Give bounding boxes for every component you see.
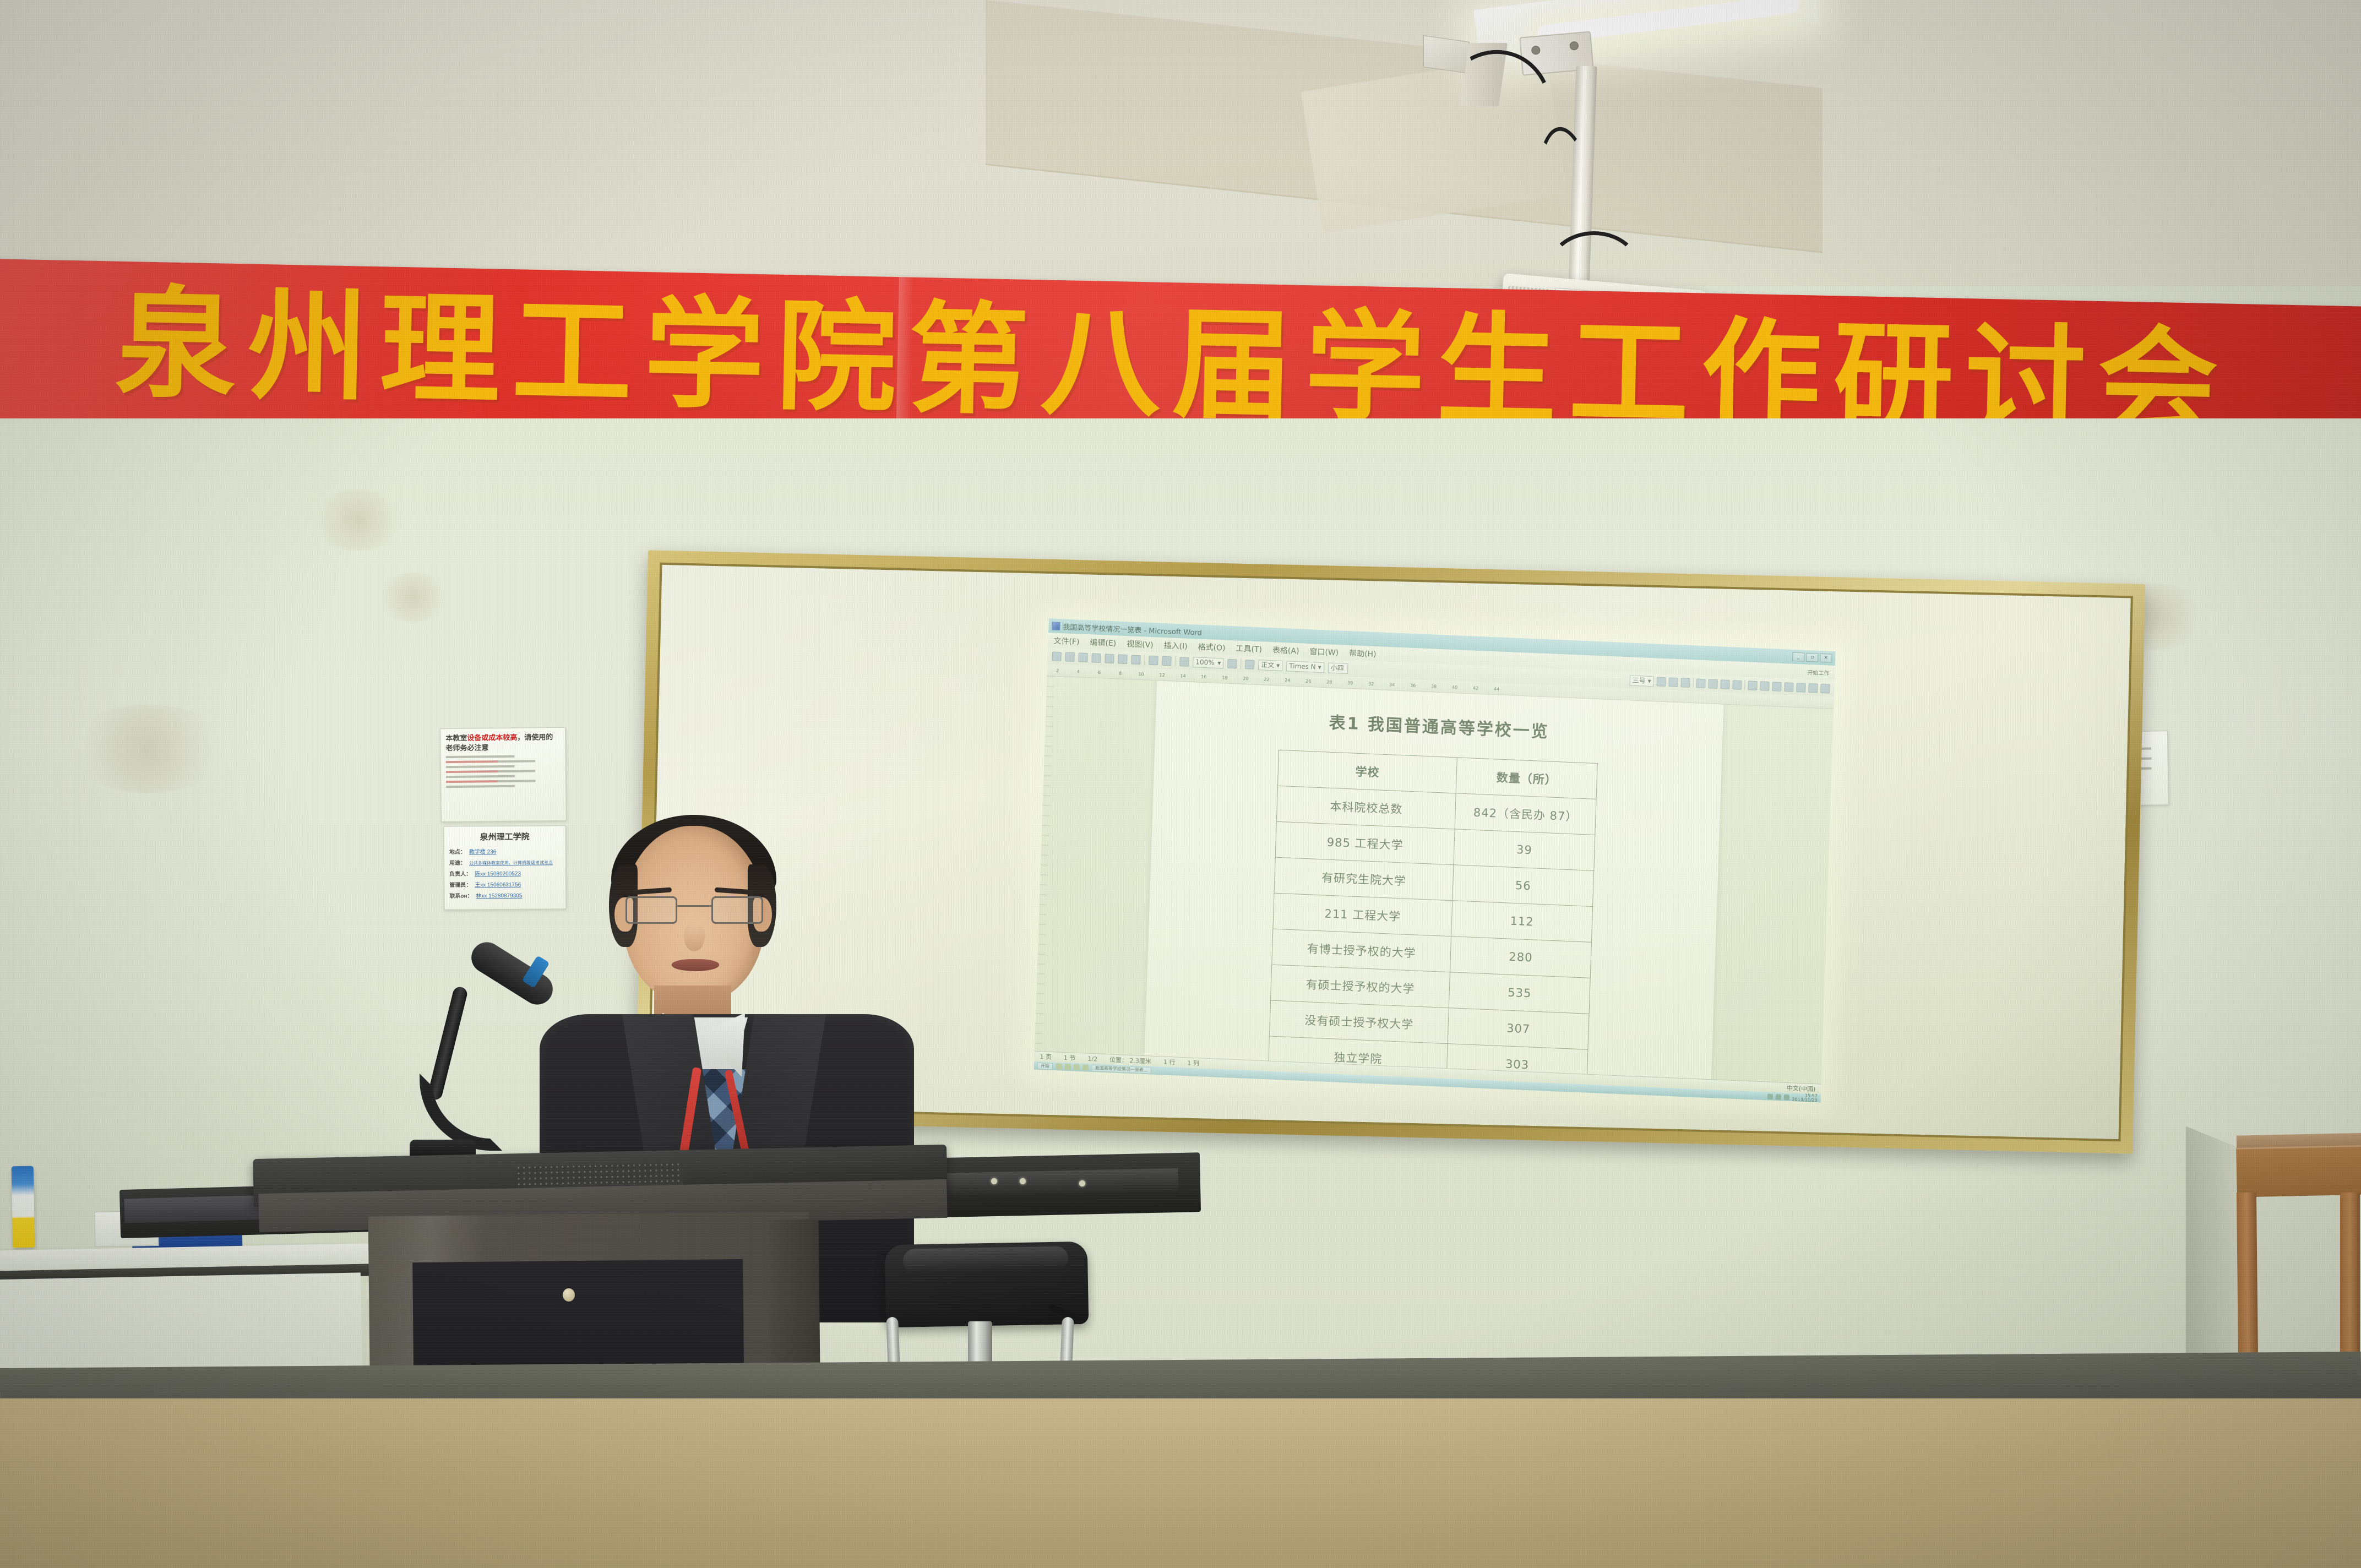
ruler-tick: 12 bbox=[1151, 672, 1172, 678]
cut-icon[interactable] bbox=[1149, 655, 1158, 665]
menu-item-help[interactable]: 帮助(H) bbox=[1349, 647, 1377, 660]
wall-stain bbox=[308, 490, 407, 551]
increase-indent-icon[interactable] bbox=[1796, 683, 1806, 693]
cell-value: 39 bbox=[1454, 829, 1595, 871]
notice-text-line bbox=[446, 770, 561, 773]
mount-bolt-icon bbox=[1569, 41, 1579, 50]
cell-value: 280 bbox=[1450, 937, 1592, 978]
font-select[interactable]: Times N ▾ bbox=[1286, 661, 1324, 673]
menu-item-edit[interactable]: 编辑(E) bbox=[1090, 636, 1116, 649]
window-controls[interactable]: _ ▫ ✕ bbox=[1792, 652, 1832, 663]
menu-item-insert[interactable]: 插入(I) bbox=[1163, 639, 1188, 651]
italic-icon[interactable] bbox=[1668, 677, 1678, 687]
notice-row-value: 王xx 15060631756 bbox=[475, 880, 521, 889]
font-size-value: 三号 bbox=[1632, 676, 1646, 685]
close-icon[interactable]: ✕ bbox=[1820, 654, 1832, 663]
numbered-list-icon[interactable] bbox=[1760, 681, 1770, 691]
decrease-indent-icon[interactable] bbox=[1784, 682, 1794, 692]
ruler-tick: 20 bbox=[1235, 676, 1256, 682]
notice-text-line bbox=[446, 775, 561, 778]
ruler-tick: 22 bbox=[1256, 676, 1277, 682]
chevron-down-icon: ▾ bbox=[1217, 658, 1221, 668]
toolbar-separator bbox=[1241, 659, 1242, 669]
menu-item-file[interactable]: 文件(F) bbox=[1053, 635, 1080, 647]
photo-scene: 泉州理工学院第八届学生工作研讨会 本教室设备或成本较高，请使用的老师务必注意 泉… bbox=[0, 0, 2361, 1568]
nose bbox=[684, 923, 705, 951]
style-icon[interactable] bbox=[1245, 660, 1255, 669]
style-value: 正文 bbox=[1261, 660, 1275, 670]
status-section: 1 节 bbox=[1064, 1053, 1076, 1063]
status-page-count: 1/2 bbox=[1087, 1055, 1097, 1063]
font-color-icon[interactable] bbox=[1820, 683, 1830, 693]
notice-row-key: 联系он： bbox=[449, 891, 472, 899]
word-document-icon bbox=[1052, 622, 1060, 630]
cell-value: 535 bbox=[1449, 972, 1591, 1014]
zoom-select[interactable]: 100% ▾ bbox=[1193, 657, 1224, 668]
shield-icon[interactable] bbox=[1784, 1094, 1789, 1099]
notice-row-value: 教学楼 236 bbox=[469, 847, 497, 855]
system-tray[interactable]: 15:57 2013/11/20 bbox=[1767, 1092, 1818, 1103]
email-icon[interactable] bbox=[1091, 653, 1101, 663]
notice-heading-part1: 本教室 bbox=[445, 734, 467, 742]
chevron-down-icon: ▾ bbox=[1318, 662, 1321, 672]
font-value: Times N bbox=[1289, 661, 1316, 672]
column-header-count: 数量（所） bbox=[1456, 758, 1597, 799]
bold-icon[interactable] bbox=[1656, 677, 1666, 687]
clock-date: 2013/11/20 bbox=[1792, 1097, 1817, 1103]
browser-icon[interactable] bbox=[1056, 1063, 1062, 1069]
toolbar-separator bbox=[1144, 655, 1145, 665]
notice-text-line bbox=[446, 755, 561, 758]
quick-launch-bar[interactable] bbox=[1056, 1063, 1089, 1070]
copy-icon[interactable] bbox=[1162, 656, 1172, 666]
notice-heading: 本教室设备或成本较高，请使用的老师务必注意 bbox=[445, 732, 560, 753]
new-document-icon[interactable] bbox=[1052, 651, 1062, 661]
ruler-tick: 40 bbox=[1444, 684, 1465, 690]
podium-lock-knob[interactable] bbox=[563, 1288, 575, 1302]
help-icon[interactable] bbox=[1227, 658, 1237, 668]
font-cjk-select[interactable]: 小四 bbox=[1328, 662, 1348, 673]
network-icon[interactable] bbox=[1767, 1093, 1773, 1099]
highlight-color-icon[interactable] bbox=[1808, 683, 1818, 693]
align-right-icon[interactable] bbox=[1720, 679, 1730, 689]
menu-item-view[interactable]: 视图(V) bbox=[1127, 638, 1154, 650]
ruler-tick: 14 bbox=[1172, 673, 1193, 679]
bar-stool-seat-highlight bbox=[903, 1246, 1069, 1273]
mouth bbox=[672, 959, 719, 971]
align-left-icon[interactable] bbox=[1696, 678, 1706, 688]
notice-row-key: 管理员： bbox=[449, 880, 471, 888]
menu-item-table[interactable]: 表格(A) bbox=[1272, 644, 1299, 656]
notice-text-line bbox=[446, 765, 561, 768]
status-language: 中文(中国) bbox=[1786, 1084, 1815, 1093]
zoom-value: 100% bbox=[1195, 657, 1215, 667]
higher-education-table: 学校 数量（所） 本科院校总数 842（含民办 87） 98 bbox=[1268, 750, 1598, 1084]
notice-row-key: 负责人： bbox=[449, 869, 471, 877]
table-caption: 表1 我国普通高等学校一览 bbox=[1155, 701, 1723, 749]
floor bbox=[0, 1398, 2361, 1568]
cell-value: 842（含民办 87） bbox=[1455, 793, 1596, 835]
line-spacing-icon[interactable] bbox=[1748, 680, 1758, 690]
chevron-down-icon: ▾ bbox=[1276, 661, 1280, 670]
ruler-tick: 4 bbox=[1068, 668, 1089, 674]
status-led-icon bbox=[1020, 1178, 1026, 1184]
folder-icon[interactable] bbox=[1074, 1064, 1080, 1070]
ruler-tick: 16 bbox=[1193, 674, 1214, 680]
volume-icon[interactable] bbox=[1776, 1094, 1781, 1099]
lens-left bbox=[625, 896, 677, 924]
ruler-tick: 26 bbox=[1298, 678, 1319, 684]
spray-can bbox=[12, 1166, 35, 1248]
undo-icon[interactable] bbox=[1179, 657, 1189, 667]
align-center-icon[interactable] bbox=[1708, 679, 1718, 689]
ruler-tick: 10 bbox=[1130, 671, 1151, 677]
app-icon[interactable] bbox=[1082, 1064, 1089, 1070]
eyeglasses-icon bbox=[625, 896, 763, 925]
print-preview-icon[interactable] bbox=[1118, 654, 1128, 664]
ruler-tick: 36 bbox=[1402, 683, 1423, 689]
print-icon[interactable] bbox=[1105, 654, 1114, 663]
ruler-tick: 34 bbox=[1381, 682, 1402, 688]
ruler-tick: 42 bbox=[1465, 685, 1486, 691]
taskbar-window-button[interactable]: 我国高等学校情况一览表... bbox=[1092, 1065, 1151, 1074]
toolbar-separator bbox=[1693, 678, 1694, 688]
cell-value: 307 bbox=[1448, 1008, 1589, 1050]
media-player-icon[interactable] bbox=[1065, 1064, 1071, 1070]
mount-bolt-icon bbox=[1531, 46, 1541, 55]
glasses-bridge bbox=[677, 905, 711, 907]
chevron-down-icon: ▾ bbox=[1647, 676, 1651, 685]
menu-item-window[interactable]: 窗口(W) bbox=[1309, 646, 1339, 658]
status-position: 位置： 2.3厘米 bbox=[1109, 1055, 1151, 1065]
vertical-ruler bbox=[1035, 676, 1055, 1051]
ruler-tick: 38 bbox=[1423, 683, 1444, 689]
ruler-tick: 28 bbox=[1319, 679, 1340, 685]
notice-equipment-warning: 本教室设备或成本较高，请使用的老师务必注意 bbox=[440, 727, 567, 822]
toolbar-separator bbox=[1744, 680, 1745, 690]
status-led-icon bbox=[991, 1178, 997, 1184]
task-pane-label[interactable]: 开始工作 bbox=[1807, 668, 1829, 677]
save-icon[interactable] bbox=[1078, 652, 1088, 662]
ruler-tick: 18 bbox=[1214, 674, 1235, 680]
underline-icon[interactable] bbox=[1680, 678, 1690, 688]
cell-value: 112 bbox=[1451, 901, 1593, 943]
notice-row-key: 地点： bbox=[449, 847, 466, 855]
status-led-icon bbox=[1079, 1180, 1085, 1186]
ruler-tick: 8 bbox=[1110, 670, 1131, 676]
status-line: 1 行 bbox=[1163, 1058, 1176, 1067]
notice-text-line bbox=[446, 780, 561, 783]
menu-item-format[interactable]: 格式(O) bbox=[1198, 641, 1226, 653]
spellcheck-icon[interactable] bbox=[1131, 655, 1141, 665]
wall-stain bbox=[66, 705, 231, 793]
notice-row-value: 陈xx 15080200523 bbox=[475, 869, 521, 878]
projected-screen: 我国高等学校情况一览表 - Microsoft Word _ ▫ ✕ 文件(F)… bbox=[1034, 618, 1836, 1102]
notice-text-line bbox=[446, 785, 561, 788]
restore-icon[interactable]: ▫ bbox=[1806, 653, 1819, 662]
wall-stain bbox=[374, 573, 451, 622]
menu-item-tools[interactable]: 工具(T) bbox=[1236, 643, 1262, 655]
notice-row-value: 林xx 15280879305 bbox=[476, 891, 522, 900]
style-select[interactable]: 正文 ▾ bbox=[1258, 660, 1283, 671]
minimize-icon[interactable]: _ bbox=[1792, 652, 1805, 662]
ruler-tick: 6 bbox=[1089, 669, 1110, 676]
toolbar-separator bbox=[1175, 656, 1176, 666]
ruler-tick: 30 bbox=[1340, 680, 1361, 686]
document-page[interactable]: 表1 我国普通高等学校一览 学校 数量（所） 本科院校总数 bbox=[1145, 680, 1724, 1079]
notice-text-line bbox=[446, 760, 561, 763]
notice-heading-highlight: 设备或成本较高 bbox=[467, 733, 517, 742]
open-folder-icon[interactable] bbox=[1065, 652, 1075, 662]
bulleted-list-icon[interactable] bbox=[1772, 682, 1782, 692]
status-page: 1 页 bbox=[1040, 1052, 1052, 1061]
ruler-tick: 24 bbox=[1277, 677, 1298, 683]
notice-row-key: 用途： bbox=[449, 858, 466, 866]
justify-icon[interactable] bbox=[1732, 680, 1742, 690]
status-column: 1 列 bbox=[1187, 1058, 1199, 1068]
lens-right bbox=[711, 896, 763, 924]
cell-value: 56 bbox=[1452, 865, 1594, 907]
wooden-desk-apron bbox=[2236, 1145, 2361, 1197]
font-size-select[interactable]: 三号 ▾ bbox=[1629, 675, 1654, 687]
ruler-tick: 32 bbox=[1361, 680, 1381, 687]
ruler-tick: 2 bbox=[1047, 668, 1068, 674]
ruler-tick: 44 bbox=[1486, 686, 1507, 692]
start-button[interactable]: 开始 bbox=[1037, 1062, 1053, 1069]
taskbar-clock[interactable]: 15:57 2013/11/20 bbox=[1792, 1093, 1818, 1103]
font-cjk-value: 小四 bbox=[1330, 663, 1344, 673]
word-document-area[interactable]: 表1 我国普通高等学校一览 学校 数量（所） 本科院校总数 bbox=[1035, 676, 1834, 1084]
